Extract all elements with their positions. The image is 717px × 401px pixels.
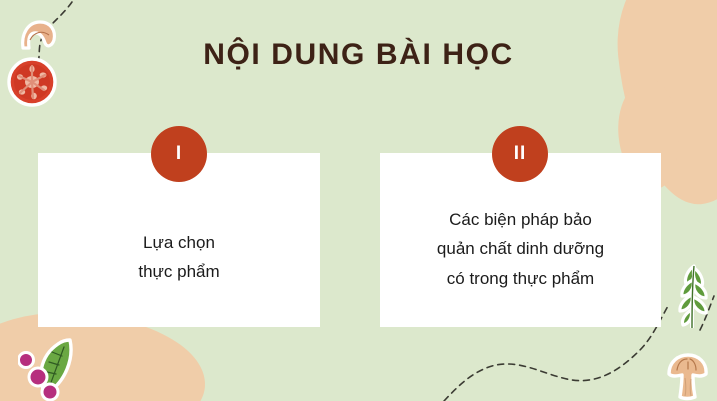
card-2-line-2: quản chất dinh dưỡng (437, 234, 604, 263)
card-2-line-1: Các biện pháp bảo (437, 205, 604, 234)
leaf-berries-icon (18, 338, 100, 401)
page-title: NỘI DUNG BÀI HỌC (0, 38, 717, 72)
card-1-badge: I (151, 126, 207, 182)
slide-canvas: NỘI DUNG BÀI HỌC Lựa chọn thực phẩm I Cá… (0, 0, 717, 401)
card-2-text: Các biện pháp bảo quản chất dinh dưỡng c… (423, 187, 618, 293)
card-1-text: Lựa chọn thực phẩm (124, 194, 233, 286)
card-1-line-1: Lựa chọn (138, 228, 219, 257)
card-2-badge: II (492, 126, 548, 182)
fern-leaf-icon (668, 258, 717, 331)
card-2-line-3: có trong thực phẩm (437, 264, 604, 293)
tomato-slice-icon (6, 56, 58, 108)
card-1-line-2: thực phẩm (138, 257, 219, 286)
cashew-icon (18, 18, 58, 52)
mushroom-icon (658, 352, 717, 401)
